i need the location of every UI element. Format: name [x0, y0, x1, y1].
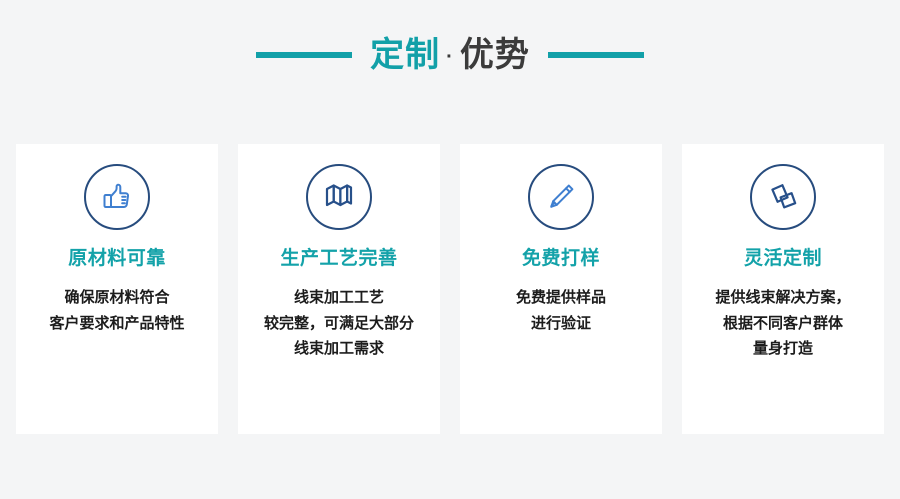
feature-card-body-line: 量身打造 [715, 336, 850, 362]
page-title-secondary: 优势 [460, 38, 530, 72]
title-rule-left [256, 52, 352, 58]
page-title-primary: 定制 [370, 38, 440, 72]
feature-card[interactable]: 生产工艺完善 线束加工工艺 较完整，可满足大部分 线束加工需求 [238, 144, 440, 434]
thumbs-up-icon [100, 180, 134, 214]
feature-card-body-line: 进行验证 [516, 311, 606, 337]
feature-card-body-line: 提供线束解决方案， [715, 285, 850, 311]
feature-card-body-line: 免费提供样品 [516, 285, 606, 311]
icon-circle [84, 164, 150, 230]
feature-card-body-line: 根据不同客户群体 [715, 311, 850, 337]
icon-circle [306, 164, 372, 230]
feature-card-title: 生产工艺完善 [280, 248, 397, 271]
feature-card-body: 免费提供样品 进行验证 [508, 285, 614, 337]
feature-card-body: 提供线束解决方案， 根据不同客户群体 量身打造 [707, 285, 858, 362]
stacked-cards-icon [766, 180, 800, 214]
feature-card-body-line: 线束加工需求 [264, 336, 414, 362]
feature-card-title: 原材料可靠 [68, 248, 166, 271]
feature-card-title: 免费打样 [522, 248, 600, 271]
title-rule-right [548, 52, 644, 58]
feature-card-body: 确保原材料符合 客户要求和产品特性 [41, 285, 192, 337]
icon-circle [528, 164, 594, 230]
feature-card[interactable]: 免费打样 免费提供样品 进行验证 [460, 144, 662, 434]
folded-map-icon [322, 180, 356, 214]
feature-card-list: 原材料可靠 确保原材料符合 客户要求和产品特性 生产工艺完善 线束加工工艺 较完… [16, 144, 884, 434]
feature-card-body: 线束加工工艺 较完整，可满足大部分 线束加工需求 [256, 285, 422, 362]
feature-card[interactable]: 灵活定制 提供线束解决方案， 根据不同客户群体 量身打造 [682, 144, 884, 434]
page-title: 定制 · 优势 [370, 38, 530, 72]
feature-card[interactable]: 原材料可靠 确保原材料符合 客户要求和产品特性 [16, 144, 218, 434]
page-title-separator: · [440, 47, 460, 67]
feature-card-body-line: 线束加工工艺 [264, 285, 414, 311]
section-header: 定制 · 优势 [0, 0, 900, 110]
feature-card-title: 灵活定制 [744, 248, 822, 271]
icon-circle [750, 164, 816, 230]
feature-card-body-line: 确保原材料符合 [49, 285, 184, 311]
pencil-icon [544, 180, 578, 214]
feature-card-body-line: 客户要求和产品特性 [49, 311, 184, 337]
feature-card-body-line: 较完整，可满足大部分 [264, 311, 414, 337]
